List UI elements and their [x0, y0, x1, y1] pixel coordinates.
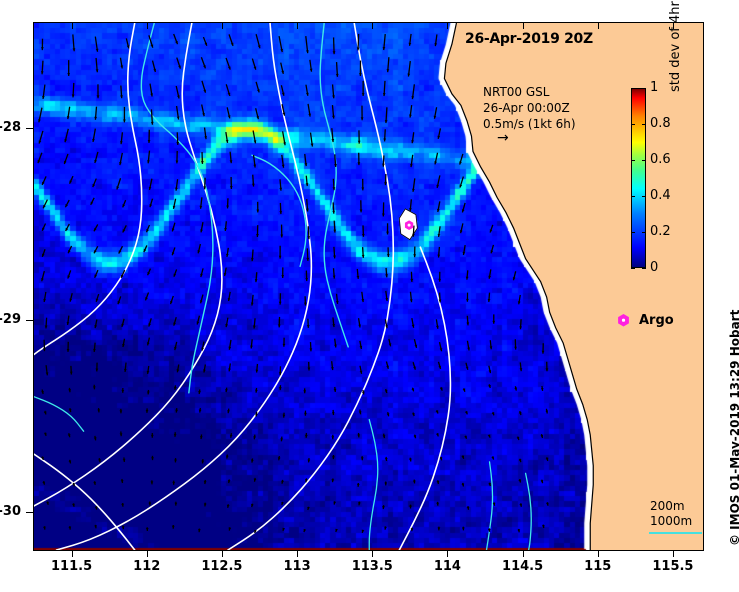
velocity-vector-head [361, 187, 364, 190]
x-tick-mark-top [447, 22, 448, 29]
velocity-vector-head [119, 410, 122, 413]
velocity-vector-head [67, 349, 70, 352]
depth-contour-legend: 200m 1000m [650, 499, 692, 529]
velocity-vector-head [384, 483, 387, 486]
velocity-vector-head [45, 325, 48, 328]
velocity-vector-head [172, 526, 175, 529]
argo-legend-label: Argo [639, 313, 674, 328]
velocity-vector-head [201, 161, 204, 164]
velocity-vector-head [283, 344, 286, 347]
velocity-vector-head [178, 65, 181, 68]
x-tick-label: 111.5 [42, 559, 102, 574]
velocity-vector-head [383, 138, 386, 141]
x-tick-mark [147, 550, 148, 557]
velocity-vector-head [359, 73, 362, 76]
contour-200m [141, 23, 213, 393]
velocity-vector-head [170, 301, 173, 304]
y-tick-label: -30 [0, 504, 21, 519]
x-tick-mark-top [297, 22, 298, 29]
map-overlays [34, 23, 703, 550]
x-tick-mark-top [598, 22, 599, 29]
colorbar-tick-mark [631, 268, 635, 269]
copyright-text: © IMOS 01-May-2019 13:29 Hobart [728, 310, 739, 546]
velocity-vector-head [387, 69, 390, 72]
velocity-vector-head [67, 73, 70, 76]
x-tick-mark [673, 550, 674, 557]
velocity-vector-head [279, 211, 282, 214]
velocity-vector-head [279, 302, 282, 305]
velocity-vector-head [488, 299, 491, 302]
argo-float-marker[interactable] [405, 221, 412, 229]
velocity-vector-head [151, 122, 154, 125]
colorbar-tick-label: 0.4 [650, 188, 671, 203]
x-tick-label: 113 [267, 559, 327, 574]
colorbar-tick-mark [631, 88, 635, 89]
velocity-vector-head [96, 69, 99, 72]
velocity-vector-head [361, 117, 364, 120]
velocity-vector-head [387, 254, 390, 257]
velocity-vector-head [306, 258, 309, 261]
velocity-vector-head [386, 232, 389, 235]
velocity-vector-head [332, 456, 335, 459]
velocity-vector-head [255, 279, 258, 282]
velocity-vector-head [96, 299, 99, 302]
x-tick-mark-top [673, 22, 674, 29]
velocity-vector-head [411, 388, 414, 391]
velocity-vector-head [278, 324, 281, 327]
velocity-vector-head [436, 503, 439, 506]
velocity-vector-head [174, 274, 177, 277]
argo-legend: Argo [617, 313, 674, 328]
velocity-vector-head [120, 433, 123, 436]
velocity-vector-head [198, 529, 201, 532]
velocity-vector-head [382, 506, 385, 509]
velocity-vector-head [491, 456, 494, 459]
velocity-vector-head [466, 277, 469, 280]
contour-1000m [57, 23, 312, 550]
velocity-vector-head [305, 435, 308, 438]
velocity-vector-head [283, 415, 286, 418]
velocity-vector-head [150, 481, 153, 484]
y-tick-label: -29 [0, 312, 21, 327]
velocity-vector-head [148, 140, 151, 143]
velocity-vector-head [307, 325, 310, 328]
velocity-vector-head [97, 95, 100, 98]
x-tick-label: 115.5 [643, 559, 703, 574]
velocity-vector-head [410, 279, 413, 282]
velocity-vector-head [67, 275, 70, 278]
velocity-vector-head [146, 528, 149, 531]
velocity-vector-head [332, 412, 335, 415]
contour-200m [34, 397, 84, 431]
velocity-vector-head [333, 230, 336, 233]
velocity-vector-head [336, 74, 339, 77]
velocity-vector-head [519, 459, 522, 462]
colorbar-tick-mark [642, 196, 646, 197]
model-annotation: NRT00 GSL 26-Apr 00:00Z 0.5m/s (1kt 6h) … [483, 84, 576, 144]
current-velocity-vectors [38, 34, 549, 533]
colorbar-tick-label: 0.2 [650, 224, 671, 239]
colorbar-tick-mark [642, 160, 646, 161]
colorbar-tick-label: 1 [650, 80, 658, 95]
contour-1000m [399, 247, 450, 550]
velocity-vector-head [72, 94, 75, 97]
velocity-vector-head [440, 387, 443, 390]
x-tick-mark [447, 550, 448, 557]
velocity-vector-head [542, 351, 545, 354]
velocity-vector-head [382, 214, 385, 217]
colorbar-tick-mark [642, 124, 646, 125]
velocity-vector-head [279, 387, 282, 390]
x-tick-label: 113.5 [342, 559, 402, 574]
velocity-vector-head [280, 235, 283, 238]
velocity-vector-head [303, 390, 306, 393]
velocity-vector-head [304, 529, 307, 532]
contour-1000m [34, 454, 135, 550]
x-tick-label: 114.5 [493, 559, 553, 574]
velocity-vector-head [463, 389, 466, 392]
annotation-line-2: 26-Apr 00:00Z [483, 100, 576, 116]
velocity-vector-head [333, 51, 336, 54]
velocity-vector-head [492, 412, 495, 415]
depth-legend-rule [649, 532, 702, 534]
velocity-vector-head [172, 482, 175, 485]
velocity-vector-head [492, 321, 495, 324]
velocity-vector-head [256, 234, 259, 237]
colorbar-tick-mark [631, 124, 635, 125]
x-tick-mark [222, 550, 223, 557]
velocity-vector-head [411, 528, 414, 531]
velocity-vector-head [358, 141, 361, 144]
depth-label-1000m: 1000m [650, 514, 692, 529]
velocity-vector-head [176, 142, 179, 145]
velocity-vector-head [357, 484, 360, 487]
colorbar-tick-mark [642, 232, 646, 233]
x-tick-label: 114 [417, 559, 477, 574]
velocity-vector-head [70, 372, 73, 375]
colorbar-tick-label: 0 [650, 260, 658, 275]
x-tick-label: 115 [568, 559, 628, 574]
velocity-vector-head [174, 459, 177, 462]
velocity-vector-head [357, 434, 360, 437]
velocity-vector-head [41, 71, 44, 74]
velocity-vector-head [362, 234, 365, 237]
argo-marker-icon [617, 314, 630, 327]
velocity-vector-head [466, 299, 469, 302]
velocity-vector-head [383, 93, 386, 96]
velocity-vector-head [362, 93, 365, 96]
velocity-vector-head [332, 95, 335, 98]
velocity-vector-head [438, 527, 441, 530]
velocity-scale-arrow-icon: → [497, 132, 576, 144]
velocity-vector-head [175, 410, 178, 413]
velocity-vector-head [94, 117, 97, 120]
velocity-vector-head [461, 456, 464, 459]
velocity-vector-head [357, 276, 360, 279]
velocity-vector-head [333, 255, 336, 258]
velocity-vector-head [308, 368, 311, 371]
contour-200m [487, 462, 493, 550]
velocity-vector-head [123, 119, 126, 122]
velocity-vector-head [174, 434, 177, 437]
colorbar-tick-label: 0.6 [650, 152, 671, 167]
velocity-vector-head [409, 506, 412, 509]
map-title: 26-Apr-2019 20Z [465, 31, 593, 47]
x-tick-mark-top [372, 22, 373, 29]
velocity-vector-head [251, 258, 254, 261]
colorbar-label: std dev of 4hr SST comp [668, 0, 683, 92]
map-plot-area[interactable] [33, 22, 704, 551]
velocity-vector-head [42, 254, 45, 257]
velocity-vector-head [332, 211, 335, 214]
velocity-vector-head [228, 66, 231, 69]
velocity-vector-head [151, 457, 154, 460]
velocity-vector-head [151, 435, 154, 438]
velocity-vector-head [146, 410, 149, 413]
x-tick-mark [372, 550, 373, 557]
x-tick-mark-top [523, 22, 524, 29]
velocity-vector-head [148, 503, 151, 506]
velocity-vector-head [279, 256, 282, 259]
velocity-vector-head [41, 47, 44, 50]
velocity-vector-head [304, 303, 307, 306]
velocity-vector-head [546, 368, 549, 371]
y-tick-mark [26, 128, 33, 129]
velocity-vector-head [332, 116, 335, 119]
colorbar-tick-mark [631, 160, 635, 161]
figure-root: 26-Apr-2019 20Z NRT00 GSL 26-Apr 00:00Z … [0, 0, 739, 592]
contour-200m [369, 420, 378, 550]
colorbar-tick-mark [642, 268, 646, 269]
velocity-vector-head [517, 437, 520, 440]
colorbar-tick-label: 0.8 [650, 116, 671, 131]
velocity-vector-head [309, 348, 312, 351]
contour-1000m [34, 23, 142, 355]
x-tick-mark [598, 550, 599, 557]
velocity-vector-head [174, 503, 177, 506]
velocity-vector-head [358, 162, 361, 165]
x-tick-mark [297, 550, 298, 557]
velocity-vector-head [490, 229, 493, 232]
velocity-vector-head [282, 528, 285, 531]
velocity-vector-head [306, 209, 309, 212]
velocity-vector-head [96, 369, 99, 372]
velocity-vector-head [120, 95, 123, 98]
velocity-vector-head [519, 326, 522, 329]
velocity-vector-head [362, 255, 365, 258]
velocity-vector-head [256, 370, 259, 373]
velocity-vector-head [44, 433, 47, 436]
velocity-vector-head [437, 255, 440, 258]
velocity-vector-head [413, 254, 416, 257]
velocity-vector-head [385, 274, 388, 277]
velocity-vector-head [305, 278, 308, 281]
velocity-vector-head [226, 206, 229, 209]
velocity-vector-head [438, 279, 441, 282]
velocity-vector-head [462, 527, 465, 530]
colorbar-tick-mark [631, 232, 635, 233]
velocity-vector-head [176, 160, 179, 163]
velocity-vector-head [252, 184, 255, 187]
velocity-vector-head [231, 43, 234, 46]
x-tick-label: 112 [117, 559, 177, 574]
velocity-vector-head [121, 390, 124, 393]
velocity-vector-head [385, 120, 388, 123]
velocity-vector-head [118, 301, 121, 304]
velocity-vector-head [333, 276, 336, 279]
velocity-vector-head [172, 252, 175, 255]
x-tick-mark-top [222, 22, 223, 29]
contour-200m [526, 473, 532, 550]
colorbar [631, 88, 646, 268]
velocity-vector-head [383, 47, 386, 50]
velocity-vector-head [230, 186, 233, 189]
velocity-vector-head [514, 347, 517, 350]
velocity-vector-head [64, 161, 67, 164]
colorbar-tick-mark [642, 88, 646, 89]
y-tick-label: -28 [0, 120, 21, 135]
x-tick-mark [523, 550, 524, 557]
velocity-vector-head [466, 322, 469, 325]
y-tick-mark [26, 320, 33, 321]
annotation-line-1: NRT00 GSL [483, 84, 576, 100]
velocity-vector-head [151, 45, 154, 48]
velocity-vector-head [281, 275, 284, 278]
velocity-vector-head [361, 457, 364, 460]
velocity-vector-head [384, 182, 387, 185]
velocity-vector-head [279, 188, 282, 191]
x-tick-mark-top [72, 22, 73, 29]
velocity-vector-head [360, 209, 363, 212]
velocity-vector-head [43, 348, 46, 351]
x-tick-mark-top [147, 22, 148, 29]
velocity-vector-head [203, 65, 206, 68]
velocity-vector-head [304, 413, 307, 416]
velocity-vector-head [116, 186, 119, 189]
velocity-vector-head [93, 386, 96, 389]
x-tick-label: 112.5 [192, 559, 252, 574]
velocity-vector-head [331, 436, 334, 439]
depth-label-200m: 200m [650, 499, 692, 514]
x-tick-mark [72, 550, 73, 557]
colorbar-tick-mark [631, 196, 635, 197]
velocity-vector-head [436, 433, 439, 436]
velocity-vector-head [73, 48, 76, 51]
y-tick-mark [26, 512, 33, 513]
velocity-vector-head [147, 391, 150, 394]
velocity-vector-head [256, 210, 259, 213]
